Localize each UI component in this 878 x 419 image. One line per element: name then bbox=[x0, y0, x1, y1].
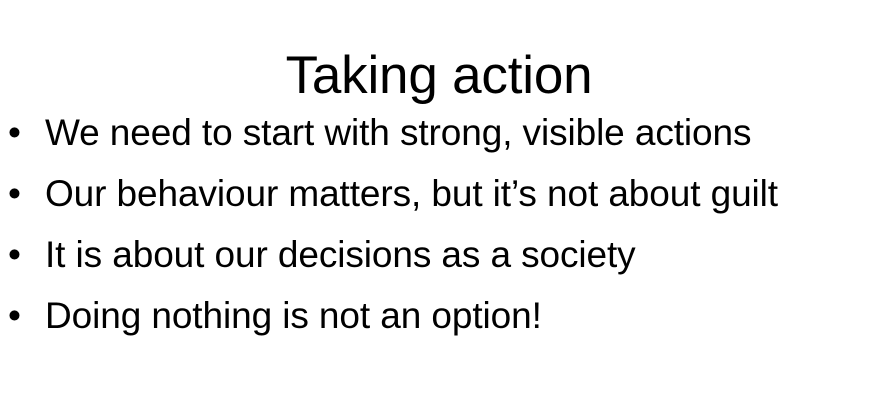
bullet-point-icon: • bbox=[8, 230, 45, 280]
bullet-item-text: Doing nothing is not an option! bbox=[45, 291, 878, 341]
bullet-list-item: • It is about our decisions as a society bbox=[0, 230, 878, 291]
bullet-item-text: It is about our decisions as a society bbox=[45, 230, 878, 280]
bullet-list-item: • Our behaviour matters, but it’s not ab… bbox=[0, 169, 878, 230]
bullet-point-icon: • bbox=[8, 169, 45, 219]
bullet-point-icon: • bbox=[8, 108, 45, 158]
bullet-item-text: Our behaviour matters, but it’s not abou… bbox=[45, 169, 878, 219]
bullet-item-text: We need to start with strong, visible ac… bbox=[45, 108, 878, 158]
slide-title: Taking action bbox=[0, 44, 878, 108]
presentation-slide: Taking action • We need to start with st… bbox=[0, 0, 878, 419]
bullet-list-item: • We need to start with strong, visible … bbox=[0, 108, 878, 169]
bullet-point-icon: • bbox=[8, 291, 45, 341]
bullet-list: • We need to start with strong, visible … bbox=[0, 108, 878, 352]
bullet-list-item: • Doing nothing is not an option! bbox=[0, 291, 878, 352]
